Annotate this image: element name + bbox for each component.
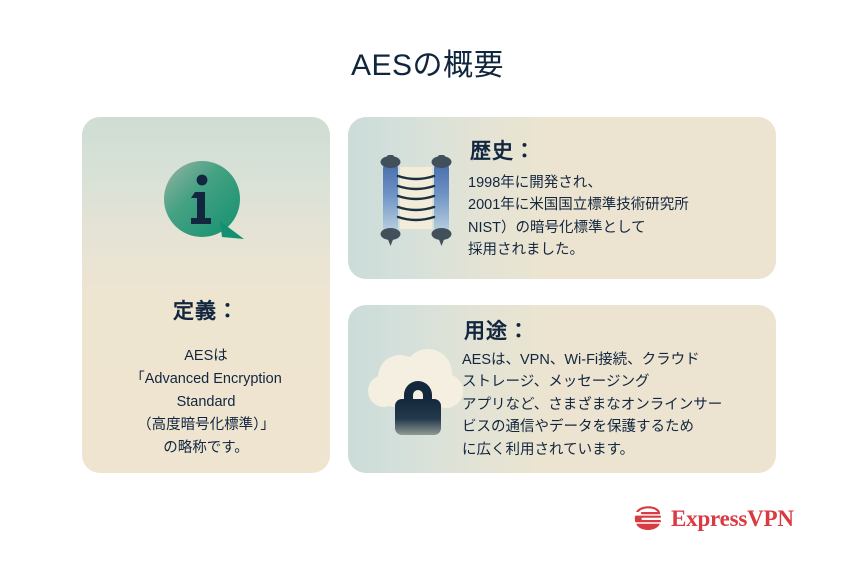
- history-body: 1998年に開発され、 2001年に米国国立標準技術研究所 NIST）の暗号化標…: [468, 172, 768, 262]
- definition-body: AESは 「Advanced Encryption Standard （高度暗号…: [130, 345, 282, 460]
- page-title: AESの概要: [0, 40, 855, 84]
- card-definition: 定義： AESは 「Advanced Encryption Standard （…: [82, 117, 330, 473]
- definition-heading: 定義：: [173, 295, 239, 325]
- usage-heading: 用途：: [464, 315, 772, 345]
- cloud-lock-icon: [364, 347, 472, 439]
- logo-wordmark: ExpressVPN: [671, 507, 794, 530]
- info-speech-bubble-icon: [158, 157, 254, 253]
- usage-body: AESは、VPN、Wi-Fi接続、クラウド ストレージ、メッセージング アプリな…: [462, 349, 772, 461]
- expressvpn-e-mark-icon: [633, 503, 663, 533]
- scroll-icon: [370, 145, 462, 249]
- expressvpn-logo: ExpressVPN: [633, 503, 794, 533]
- card-history: 歴史： 1998年に開発され、 2001年に米国国立標準技術研究所 NIST）の…: [348, 117, 776, 279]
- infographic-page: AESの概要 定義： AESは 「Advanced Encryption Sta…: [0, 0, 855, 561]
- history-heading: 歴史：: [470, 135, 768, 165]
- card-usage: 用途： AESは、VPN、Wi-Fi接続、クラウド ストレージ、メッセージング …: [348, 305, 776, 473]
